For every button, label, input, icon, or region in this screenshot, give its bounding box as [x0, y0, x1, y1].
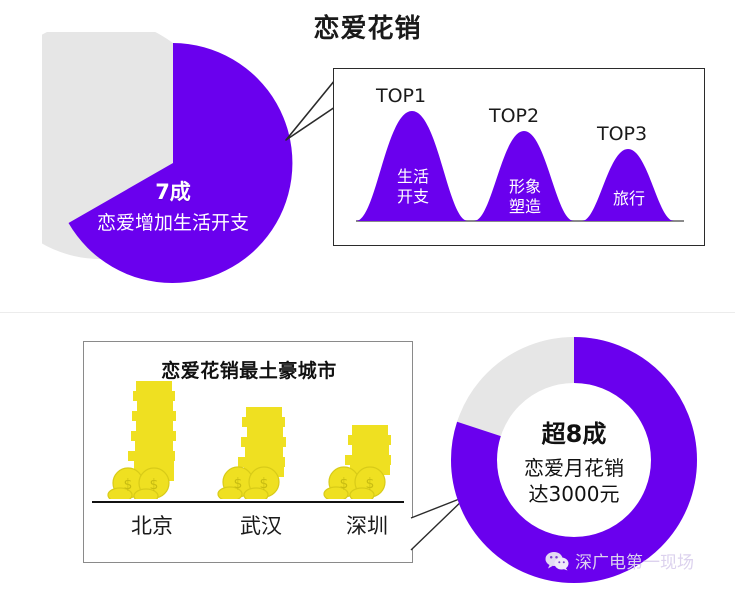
richest-cities-box: 恋爱花销最土豪城市 $ [83, 341, 413, 563]
coin-stack-icon-beijing: $ $ [106, 379, 198, 499]
city-label-wuhan: 武汉 [206, 510, 316, 540]
coin-chart-baseline [92, 501, 404, 503]
pie-chart-spending-increase: 7成 恋爱增加生活开支 [42, 32, 304, 294]
watermark-text: 深广电第一现场 [575, 548, 694, 573]
svg-text:$: $ [340, 476, 349, 492]
svg-text:$: $ [124, 477, 133, 493]
peak-text-top3-line1: 旅行 [600, 189, 658, 209]
wechat-icon [545, 551, 569, 571]
rank-label-top3: TOP3 [597, 123, 647, 145]
peak-text-top2-line1: 形象 [496, 177, 554, 197]
city-label-beijing: 北京 [97, 510, 207, 540]
peak-text-top2-line2: 塑造 [496, 197, 554, 217]
peak-text-top1-line1: 生活 [384, 167, 442, 187]
rank-label-top1: TOP1 [376, 85, 426, 107]
callout-tail-top-shape [286, 80, 335, 140]
coin-stack-icon-wuhan: $ $ [216, 405, 308, 499]
pie-chart-svg [42, 32, 304, 294]
rank-label-top2: TOP2 [489, 105, 539, 127]
svg-text:$: $ [260, 476, 269, 492]
infographic-canvas: 恋爱花销 7成 恋爱增加生活开支 TOP1 TOP2 TOP3 [0, 0, 735, 585]
top-ranking-box: TOP1 TOP2 TOP3 生活 开支 形象 塑造 旅行 [333, 68, 705, 246]
peak-text-top3: 旅行 [600, 189, 658, 209]
bell-curve-top3 [582, 149, 674, 221]
coin-stack-icon-shenzhen: $ $ [322, 423, 414, 499]
panel-divider [0, 312, 735, 313]
svg-text:$: $ [150, 477, 159, 493]
peak-text-top2: 形象 塑造 [496, 177, 554, 217]
callout-tail-top [280, 60, 340, 150]
peak-text-top1: 生活 开支 [384, 167, 442, 207]
svg-text:$: $ [234, 476, 243, 492]
watermark: 深广电第一现场 [545, 548, 694, 573]
peak-text-top1-line2: 开支 [384, 187, 442, 207]
svg-text:$: $ [366, 476, 375, 492]
